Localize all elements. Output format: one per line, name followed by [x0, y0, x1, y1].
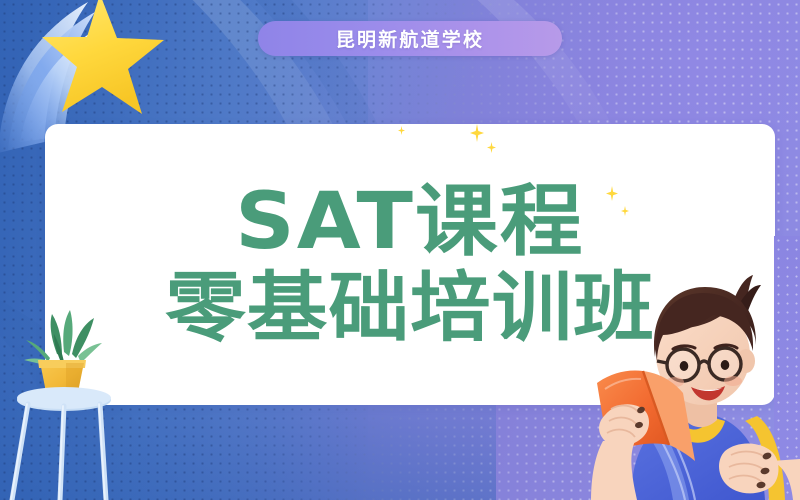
school-name-badge-label: 昆明新航道学校: [336, 25, 484, 52]
poster-canvas: SAT课程 零基础培训班 昆明新航道学校: [0, 0, 800, 500]
plant-leaves: [24, 310, 102, 365]
student-right-hand: [719, 444, 779, 494]
student-left-arm: [591, 441, 637, 500]
student-eye-right: [721, 360, 730, 370]
potted-plant-on-stool: [2, 300, 138, 500]
student-with-book-illustration: [585, 265, 800, 500]
student-eye-left: [680, 361, 689, 371]
school-name-badge[interactable]: 昆明新航道学校: [258, 21, 562, 56]
